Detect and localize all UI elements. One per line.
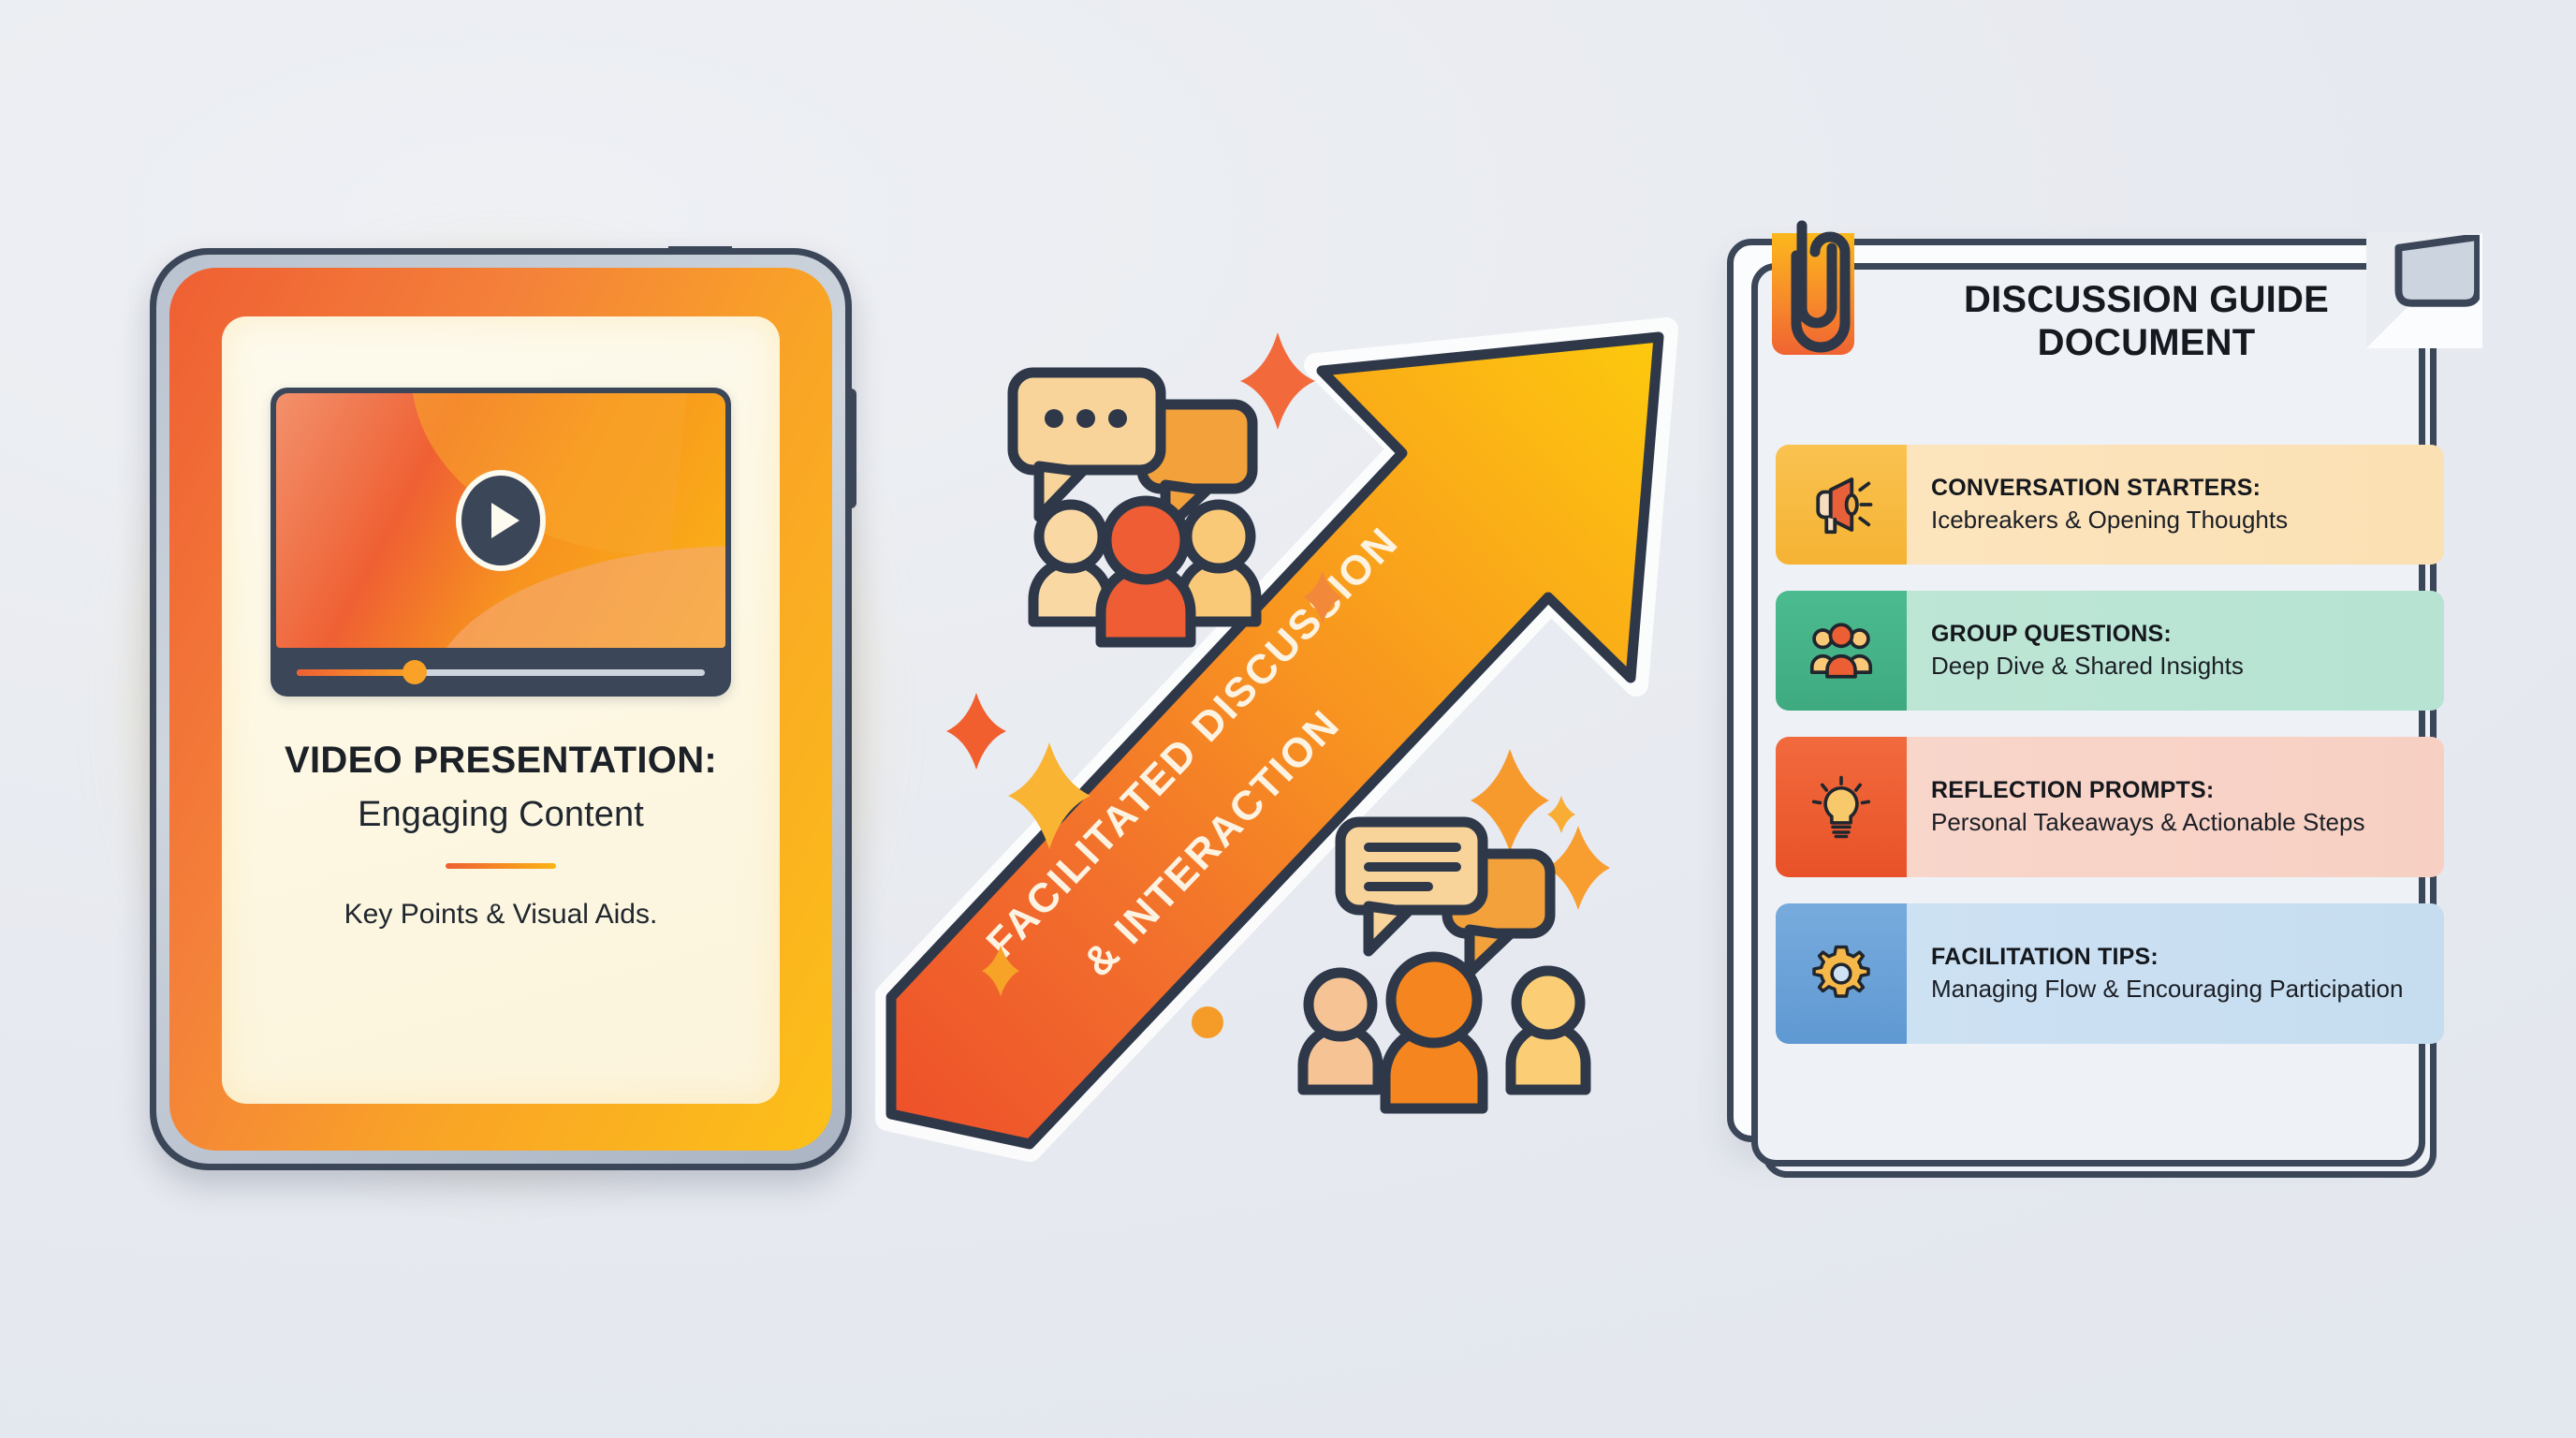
doc-row-facilitation-tips[interactable]: FACILITATION TIPS: Managing Flow & Encou… <box>1776 903 2444 1044</box>
discussion-cluster-top <box>973 346 1348 660</box>
lightbulb-icon <box>1808 773 1875 841</box>
row-text-cell: GROUP QUESTIONS: Deep Dive & Shared Insi… <box>1907 591 2444 711</box>
discussion-cluster-bottom <box>1282 805 1657 1119</box>
row-icon-cell <box>1776 591 1907 711</box>
doc-row-reflection-prompts[interactable]: REFLECTION PROMPTS: Personal Takeaways &… <box>1776 737 2444 877</box>
row-text-cell: REFLECTION PROMPTS: Personal Takeaways &… <box>1907 737 2444 877</box>
paper-sheet-front: DISCUSSION GUIDE DOCUMENT <box>1727 239 2403 1142</box>
row-subtext: Icebreakers & Opening Thoughts <box>1931 506 2423 536</box>
row-heading: GROUP QUESTIONS: <box>1931 621 2423 648</box>
row-subtext: Deep Dive & Shared Insights <box>1931 652 2423 682</box>
doc-row-conversation-starters[interactable]: CONVERSATION STARTERS: Icebreakers & Ope… <box>1776 445 2444 565</box>
row-text-cell: FACILITATION TIPS: Managing Flow & Encou… <box>1907 903 2444 1044</box>
infographic-canvas: VIDEO PRESENTATION: Engaging Content Key… <box>0 0 2576 1438</box>
paperclip-icon <box>1779 203 1854 372</box>
row-subtext: Managing Flow & Encouraging Participatio… <box>1931 975 2423 1005</box>
doc-row-group-questions[interactable]: GROUP QUESTIONS: Deep Dive & Shared Insi… <box>1776 591 2444 711</box>
discussion-guide-document: DISCUSSION GUIDE DOCUMENT <box>1727 239 2476 1222</box>
gear-icon <box>1808 941 1874 1006</box>
people-group-icon <box>1303 957 1586 1108</box>
row-text-cell: CONVERSATION STARTERS: Icebreakers & Ope… <box>1907 445 2444 565</box>
row-icon-cell <box>1776 445 1907 565</box>
document-title: DISCUSSION GUIDE DOCUMENT <box>1867 278 2425 365</box>
row-heading: CONVERSATION STARTERS: <box>1931 475 2423 502</box>
row-icon-cell <box>1776 903 1907 1044</box>
megaphone-icon <box>1808 471 1875 538</box>
row-icon-cell <box>1776 737 1907 877</box>
row-subtext: Personal Takeaways & Actionable Steps <box>1931 808 2423 838</box>
people-group-icon <box>1807 616 1876 685</box>
document-rows: CONVERSATION STARTERS: Icebreakers & Ope… <box>1776 445 2444 1070</box>
people-group-icon <box>1033 501 1256 642</box>
row-heading: REFLECTION PROMPTS: <box>1931 777 2423 804</box>
row-heading: FACILITATION TIPS: <box>1931 944 2423 971</box>
